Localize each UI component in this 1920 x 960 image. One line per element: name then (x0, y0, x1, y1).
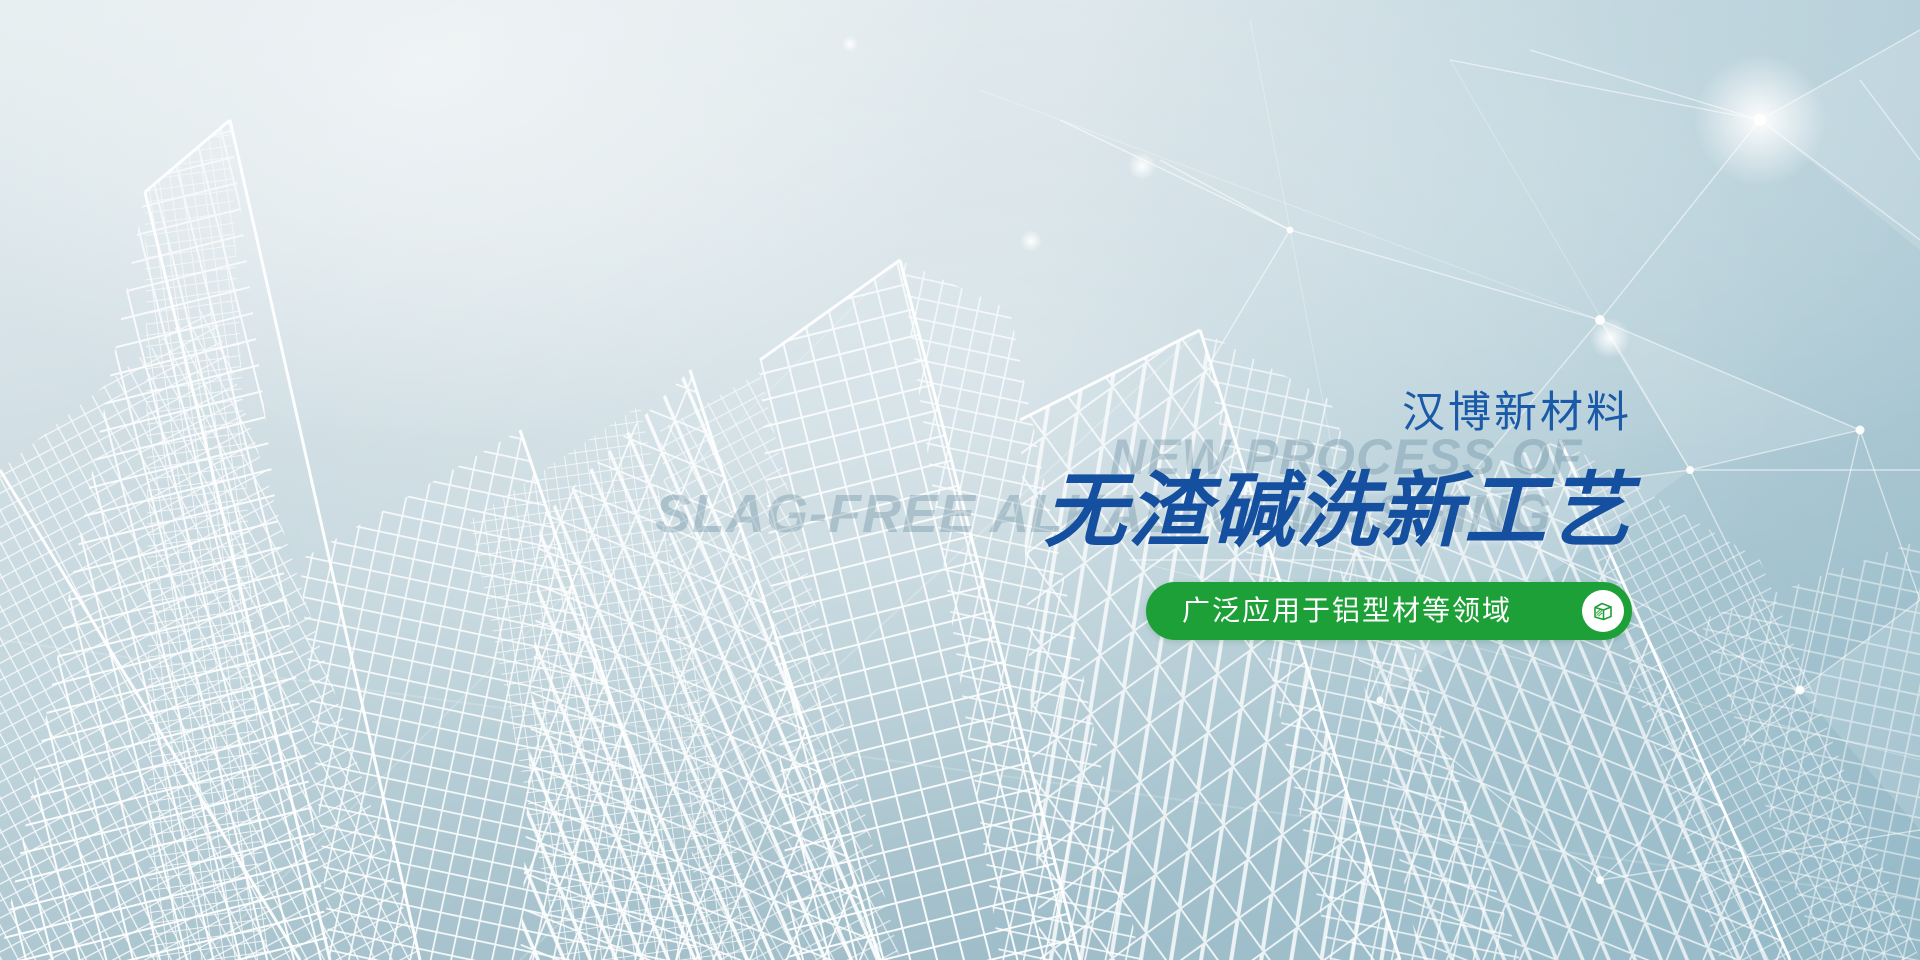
brand-name: 汉博新材料 (1402, 392, 1632, 435)
hero-banner: NEW PROCESS OF SLAG-FREE ALKALINE WASHIN… (0, 0, 1920, 960)
background-vignette (0, 0, 1920, 960)
application-pill-badge[interactable]: 广泛应用于铝型材等领域 (1146, 582, 1632, 640)
headline-title: 无渣碱洗新工艺 (1044, 471, 1632, 553)
aluminium-profile-cube-icon (1582, 590, 1624, 632)
application-pill-label: 广泛应用于铝型材等领域 (1182, 597, 1512, 625)
